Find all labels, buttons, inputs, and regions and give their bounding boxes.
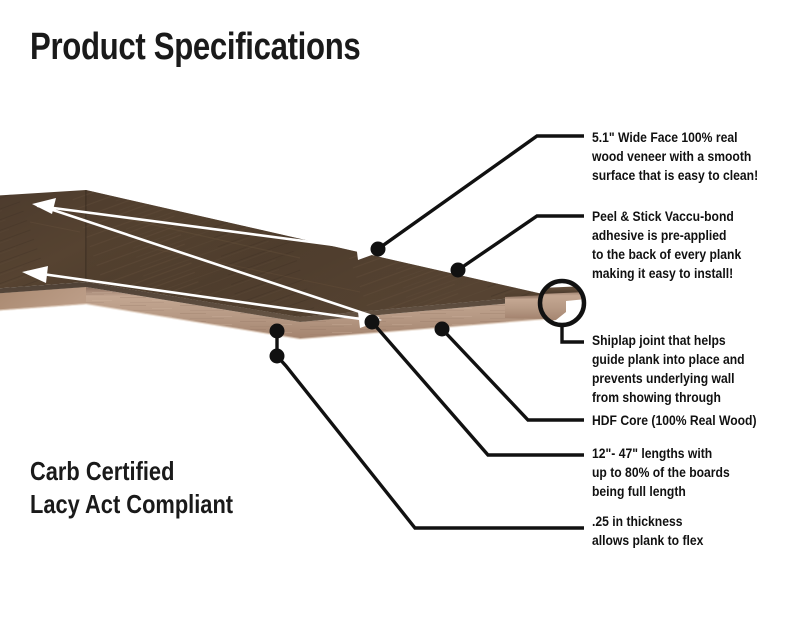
annotation-wide-face: 5.1" Wide Face 100% real wood veneer wit… [592, 128, 758, 185]
annotation-shiplap: Shiplap joint that helps guide plank int… [592, 331, 745, 408]
annotation-peel-stick: Peel & Stick Vaccu-bond adhesive is pre-… [592, 207, 741, 284]
annotation-lengths-line-1: 12"- 47" lengths with [592, 444, 730, 463]
annotation-wide-face-line-1: 5.1" Wide Face 100% real [592, 128, 758, 147]
annotation-shiplap-line-4: from showing through [592, 388, 745, 407]
annotation-lengths-line-2: up to 80% of the boards [592, 463, 730, 482]
annotation-shiplap-line-2: guide plank into place and [592, 350, 745, 369]
leader-dot-peel-stick [451, 263, 466, 278]
leader-dot-thickness-bottom [270, 349, 285, 364]
annotation-peel-stick-line-1: Peel & Stick Vaccu-bond [592, 207, 741, 226]
leader-dot-lengths [365, 315, 380, 330]
certification-block: Carb Certified Lacy Act Compliant [30, 455, 233, 522]
leader-line-peel-stick [458, 216, 584, 270]
leader-dot-thickness-top [270, 324, 285, 339]
leader-line-thickness [277, 331, 584, 528]
annotation-wide-face-line-3: surface that is easy to clean! [592, 166, 758, 185]
page-title: Product Specifications [30, 26, 360, 69]
annotation-wide-face-line-2: wood veneer with a smooth [592, 147, 758, 166]
product-specifications-page: Product Specifications Carb Certified La… [0, 0, 800, 624]
leader-dot-wide-face [371, 242, 386, 257]
annotation-hdf-core-line-1: HDF Core (100% Real Wood) [592, 411, 757, 430]
leader-line-wide-face [378, 136, 584, 249]
annotation-thickness-line-2: allows plank to flex [592, 531, 703, 550]
annotation-peel-stick-line-4: making it easy to install! [592, 264, 741, 283]
annotation-lengths-line-3: being full length [592, 482, 730, 501]
annotation-hdf-core: HDF Core (100% Real Wood) [592, 411, 757, 430]
shiplap-magnifier-callout [538, 279, 586, 327]
leader-dot-hdf-core [435, 322, 450, 337]
leader-line-lengths [372, 322, 584, 455]
annotation-thickness: .25 in thickness allows plank to flex [592, 512, 703, 550]
annotation-lengths: 12"- 47" lengths with up to 80% of the b… [592, 444, 730, 501]
annotation-peel-stick-line-2: adhesive is pre-applied [592, 226, 741, 245]
annotation-shiplap-line-3: prevents underlying wall [592, 369, 745, 388]
annotation-thickness-line-1: .25 in thickness [592, 512, 703, 531]
certification-line-1: Carb Certified [30, 455, 233, 488]
certification-line-2: Lacy Act Compliant [30, 488, 233, 521]
annotation-peel-stick-line-3: to the back of every plank [592, 245, 741, 264]
annotation-shiplap-line-1: Shiplap joint that helps [592, 331, 745, 350]
